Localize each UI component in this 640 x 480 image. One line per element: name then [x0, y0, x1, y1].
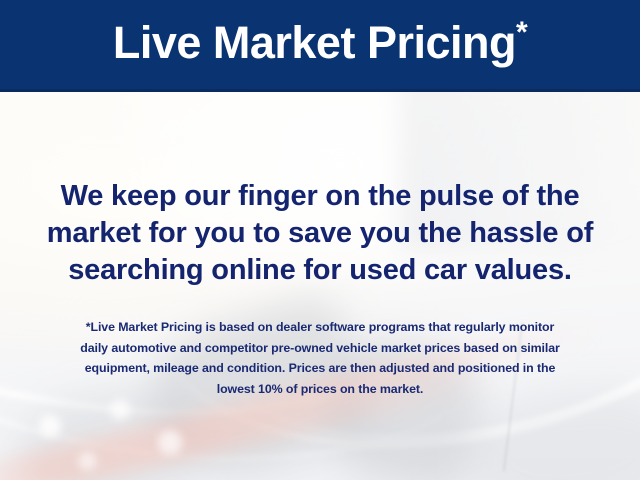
disclaimer-line-1: *Live Market Pricing is based on dealer …: [28, 317, 612, 338]
live-market-pricing-banner: Live Market Pricing* We keep our finger …: [0, 0, 640, 480]
header-banner: Live Market Pricing*: [0, 0, 640, 92]
page-title: Live Market Pricing*: [113, 20, 527, 69]
headline: We keep our finger on the pulse of the m…: [0, 178, 640, 289]
disclaimer-line-2: daily automotive and competitor pre-owne…: [28, 338, 612, 359]
headline-line-1: We keep our finger on the pulse of the: [0, 178, 640, 215]
page-title-text: Live Market Pricing: [113, 17, 516, 68]
headline-line-2: market for you to save you the hassle of: [0, 215, 640, 252]
page-title-asterisk: *: [516, 16, 527, 49]
disclaimer-line-4: lowest 10% of prices on the market.: [28, 379, 612, 400]
disclaimer: *Live Market Pricing is based on dealer …: [28, 317, 612, 399]
headline-line-3: searching online for used car values.: [0, 252, 640, 289]
disclaimer-line-3: equipment, mileage and condition. Prices…: [28, 358, 612, 379]
